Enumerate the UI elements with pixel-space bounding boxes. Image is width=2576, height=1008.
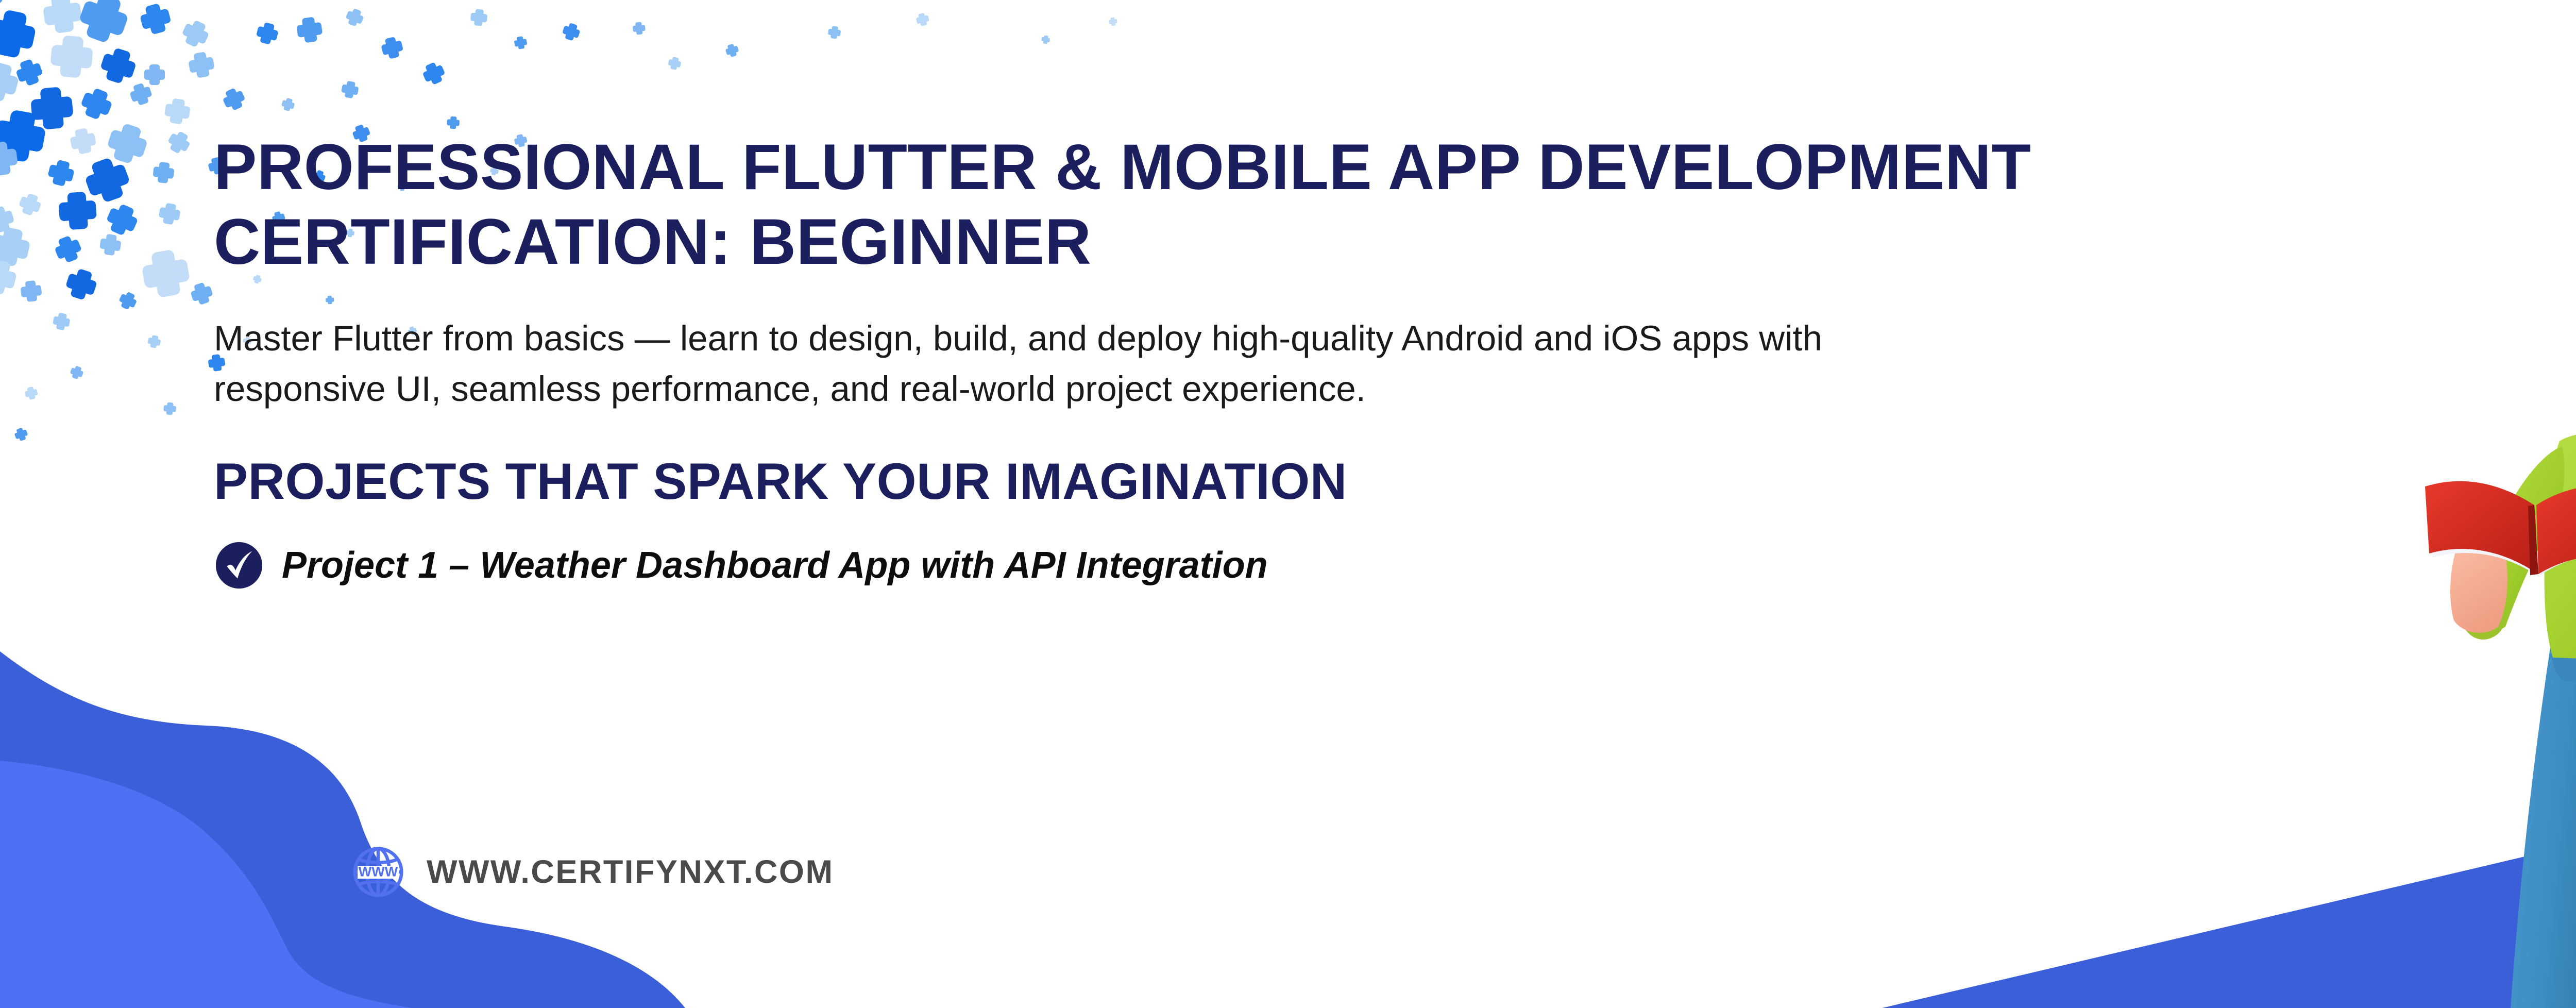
website-footer[interactable]: WWW WWW.CERTIFYNXT.COM bbox=[350, 844, 834, 900]
banner-content: PROFESSIONAL FLUTTER & MOBILE APP DEVELO… bbox=[214, 0, 2223, 1008]
globe-www-icon: WWW bbox=[350, 844, 406, 900]
character-jeans bbox=[2511, 637, 2576, 1008]
course-description: Master Flutter from basics — learn to de… bbox=[214, 313, 1965, 414]
projects-section-heading: PROJECTS THAT SPARK YOUR IMAGINATION bbox=[214, 453, 1347, 510]
project-title: Project 1 – Weather Dashboard App with A… bbox=[282, 547, 1268, 584]
website-url[interactable]: WWW.CERTIFYNXT.COM bbox=[427, 856, 834, 888]
check-circle-icon bbox=[214, 540, 264, 591]
character-illustration bbox=[2382, 183, 2576, 1008]
list-item: Project 1 – Weather Dashboard App with A… bbox=[214, 540, 1268, 591]
globe-www-label: WWW bbox=[359, 864, 398, 880]
page-title: PROFESSIONAL FLUTTER & MOBILE APP DEVELO… bbox=[214, 130, 2130, 279]
certification-banner: PROFESSIONAL FLUTTER & MOBILE APP DEVELO… bbox=[0, 0, 2576, 1008]
